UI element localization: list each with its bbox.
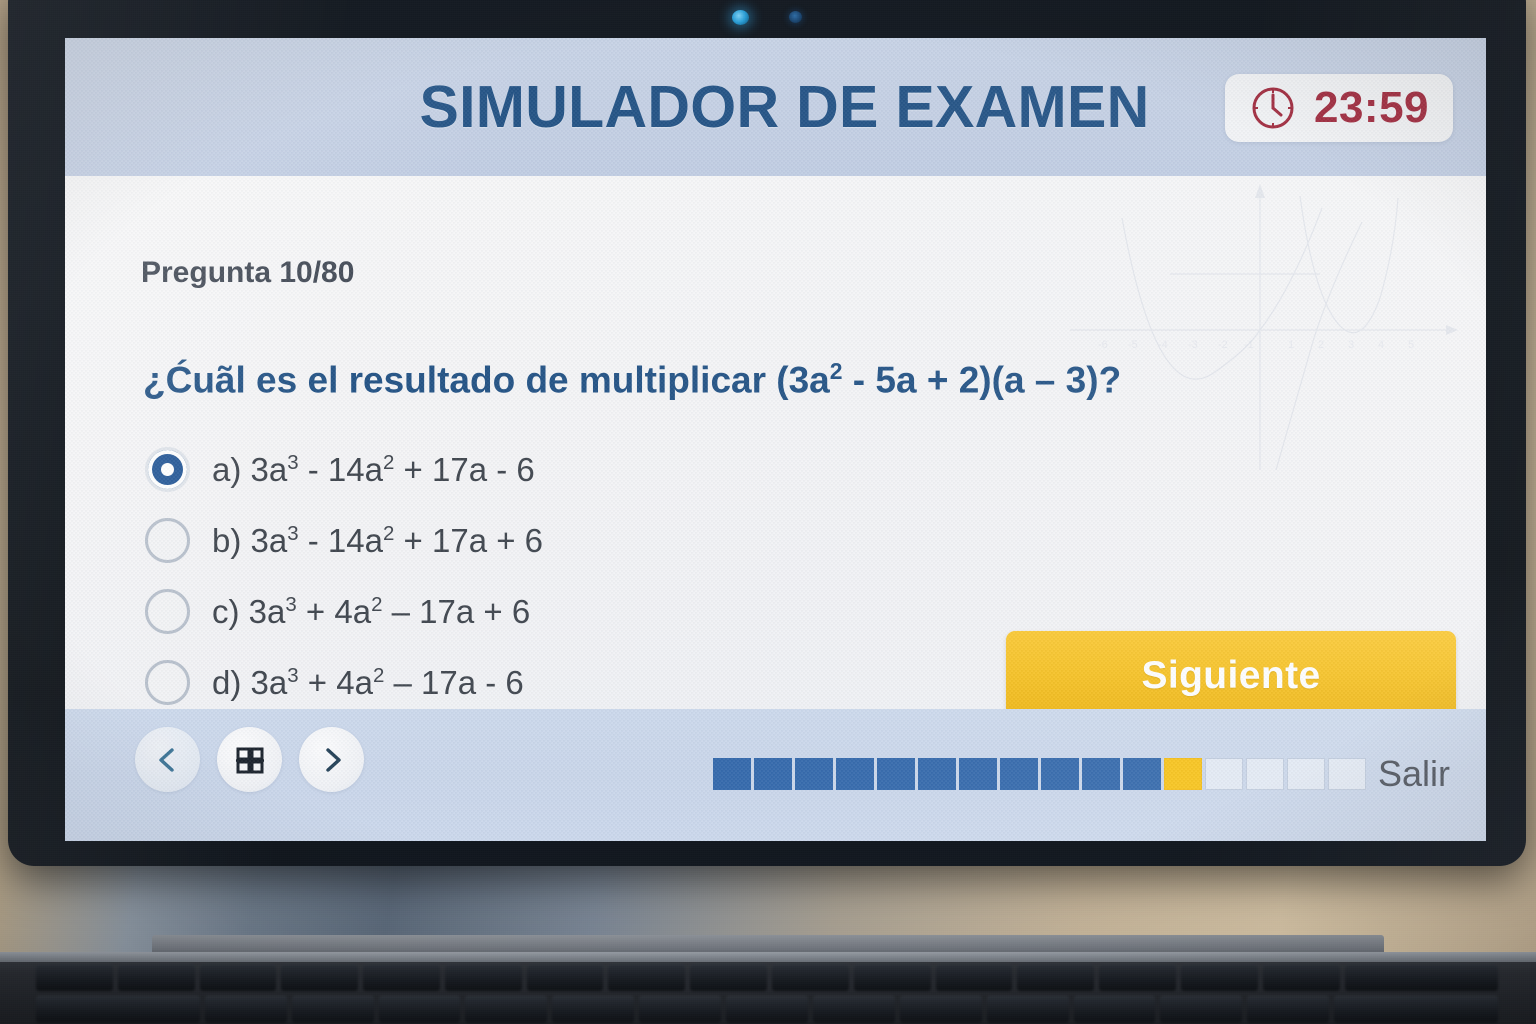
keyboard-key (726, 996, 808, 1023)
laptop-base (0, 952, 1536, 1024)
option-b-label: b) 3a3 - 14a2 + 17a + 6 (212, 522, 543, 560)
keyboard-key (639, 996, 721, 1023)
progress-segment-8[interactable] (1000, 758, 1038, 790)
option-c-label: c) 3a3 + 4a2 – 17a + 6 (212, 593, 530, 631)
question-prompt-suffix: - 5a + 2)(a – 3)? (843, 359, 1122, 400)
keyboard-key (1247, 996, 1329, 1023)
progress-segment-16[interactable] (1328, 758, 1366, 790)
chevron-right-icon (317, 745, 347, 775)
keyboard-key (200, 964, 277, 991)
app-header: SIMULADOR DE EXAMEN 23:59 (65, 38, 1486, 176)
keyboard-key (205, 996, 287, 1023)
question-panel: -6-5 -4-3 -2-1 12 34 5 Pregunta 10/80 ¿Ć… (65, 176, 1486, 709)
option-c-exp2: 2 (371, 593, 382, 616)
svg-text:-2: -2 (1218, 339, 1228, 351)
keyboard-key (1099, 964, 1176, 991)
progress-segment-12[interactable] (1164, 758, 1202, 790)
photo-scene: SIMULADOR DE EXAMEN 23:59 (0, 0, 1536, 1024)
option-a-exp1: 3 (287, 451, 298, 474)
option-a-letter: a) (212, 451, 241, 488)
keyboard-key (936, 964, 1013, 991)
option-c-letter: c) (212, 593, 240, 630)
progress-bar[interactable] (713, 758, 1366, 790)
webcam-led-icon (732, 10, 749, 25)
keyboard-key (552, 996, 634, 1023)
option-c-row[interactable]: c) 3a3 + 4a2 – 17a + 6 (145, 576, 543, 647)
progress-segment-11[interactable] (1123, 758, 1161, 790)
progress-segment-13[interactable] (1205, 758, 1243, 790)
keyboard-row (36, 964, 1498, 991)
option-a-label: a) 3a3 - 14a2 + 17a - 6 (212, 451, 535, 489)
keyboard-key (465, 996, 547, 1023)
option-d-base: 3a (251, 664, 288, 701)
keyboard-key (445, 964, 522, 991)
keyboard-key (281, 964, 358, 991)
keyboard-key (1074, 996, 1156, 1023)
option-b-exp1: 3 (287, 522, 298, 545)
keyboard-row (36, 996, 1498, 1023)
svg-text:3: 3 (1348, 339, 1354, 351)
option-a-exp2: 2 (383, 451, 394, 474)
option-b-letter: b) (212, 522, 241, 559)
keyboard-key (1160, 996, 1242, 1023)
option-b-mid: - 14a (299, 522, 383, 559)
option-d-mid: + 4a (299, 664, 373, 701)
keyboard-key (608, 964, 685, 991)
question-prompt: ¿Ćuãl es el resultado de multiplicar (3a… (143, 358, 1121, 401)
grid-overview-icon (234, 744, 266, 776)
keyboard-key (854, 964, 931, 991)
keyboard-key (900, 996, 982, 1023)
keyboard-key (292, 996, 374, 1023)
keyboard-key (1017, 964, 1094, 991)
option-c-tail: – 17a + 6 (382, 593, 530, 630)
progress-segment-9[interactable] (1041, 758, 1079, 790)
keyboard-key (527, 964, 604, 991)
radio-option-c[interactable] (145, 589, 190, 634)
page-title: SIMULADOR DE EXAMEN (419, 73, 1149, 141)
keyboard-key (690, 964, 767, 991)
question-prompt-exponent: 2 (830, 358, 843, 384)
keyboard-key (1181, 964, 1258, 991)
keyboard-key (379, 996, 461, 1023)
option-a-mid: - 14a (299, 451, 383, 488)
keyboard-key (772, 964, 849, 991)
laptop-screen: SIMULADOR DE EXAMEN 23:59 (65, 38, 1486, 841)
webcam-area (672, 4, 862, 30)
svg-text:1: 1 (1288, 339, 1294, 351)
keyboard-key (987, 996, 1069, 1023)
answer-options-list: a) 3a3 - 14a2 + 17a - 6 b) 3a3 - 14a2 + … (145, 434, 543, 718)
progress-segment-5[interactable] (877, 758, 915, 790)
svg-text:-1: -1 (1244, 339, 1254, 351)
webcam-lens-icon (789, 11, 802, 23)
keyboard-key (813, 996, 895, 1023)
option-b-exp2: 2 (383, 522, 394, 545)
keyboard-key (363, 964, 440, 991)
svg-text:4: 4 (1378, 339, 1384, 351)
radio-dot-icon (161, 463, 174, 476)
laptop-base-rail (0, 952, 1536, 962)
option-b-tail: + 17a + 6 (394, 522, 543, 559)
timer-chip: 23:59 (1225, 74, 1453, 142)
svg-text:-4: -4 (1158, 339, 1168, 351)
progress-segment-3[interactable] (795, 758, 833, 790)
question-overview-button[interactable] (217, 727, 282, 792)
option-b-row[interactable]: b) 3a3 - 14a2 + 17a + 6 (145, 505, 543, 576)
option-d-tail: – 17a - 6 (384, 664, 523, 701)
option-d-label: d) 3a3 + 4a2 – 17a - 6 (212, 664, 524, 702)
svg-text:2: 2 (1318, 339, 1324, 351)
option-d-exp2: 2 (373, 664, 384, 687)
timer-value: 23:59 (1314, 83, 1429, 133)
keyboard-key (1334, 996, 1498, 1023)
question-counter: Pregunta 10/80 (141, 256, 354, 290)
next-button[interactable]: Siguiente (1006, 631, 1456, 721)
option-c-base: 3a (249, 593, 286, 630)
keyboard-key (1345, 964, 1499, 991)
option-c-mid: + 4a (297, 593, 371, 630)
progress-segment-6[interactable] (918, 758, 956, 790)
clock-icon (1249, 84, 1297, 132)
option-a-row[interactable]: a) 3a3 - 14a2 + 17a - 6 (145, 434, 543, 505)
option-d-row[interactable]: d) 3a3 + 4a2 – 17a - 6 (145, 647, 543, 718)
keyboard-key (36, 996, 200, 1023)
option-d-exp1: 3 (287, 664, 298, 687)
graph-watermark-icon: -6-5 -4-3 -2-1 12 34 5 (1062, 178, 1462, 478)
next-question-button[interactable] (299, 727, 364, 792)
question-prompt-prefix: ¿Ćuãl es el resultado de multiplicar (3a (143, 359, 830, 400)
svg-text:-5: -5 (1128, 339, 1138, 351)
app-footer: Salir (65, 709, 1486, 841)
keyboard-key (118, 964, 195, 991)
keyboard-key (1263, 964, 1340, 991)
progress-segment-4[interactable] (836, 758, 874, 790)
radio-option-b[interactable] (145, 518, 190, 563)
progress-segment-1[interactable] (713, 758, 751, 790)
option-c-exp1: 3 (285, 593, 296, 616)
chevron-left-icon (153, 745, 183, 775)
option-b-base: 3a (251, 522, 288, 559)
svg-text:-6: -6 (1098, 339, 1108, 351)
laptop-lid: SIMULADOR DE EXAMEN 23:59 (8, 0, 1526, 866)
previous-question-button[interactable] (135, 727, 200, 792)
laptop-keyboard (36, 964, 1498, 1024)
option-a-base: 3a (251, 451, 288, 488)
radio-option-a[interactable] (145, 447, 190, 492)
progress-segment-10[interactable] (1082, 758, 1120, 790)
option-d-letter: d) (212, 664, 241, 701)
keyboard-key (36, 964, 113, 991)
exit-link[interactable]: Salir (1378, 753, 1450, 795)
progress-segment-7[interactable] (959, 758, 997, 790)
option-a-tail: + 17a - 6 (394, 451, 534, 488)
svg-text:-3: -3 (1188, 339, 1198, 351)
radio-option-d[interactable] (145, 660, 190, 705)
progress-segment-14[interactable] (1246, 758, 1284, 790)
progress-segment-2[interactable] (754, 758, 792, 790)
svg-text:5: 5 (1408, 339, 1414, 351)
navigation-buttons (135, 727, 364, 792)
progress-segment-15[interactable] (1287, 758, 1325, 790)
